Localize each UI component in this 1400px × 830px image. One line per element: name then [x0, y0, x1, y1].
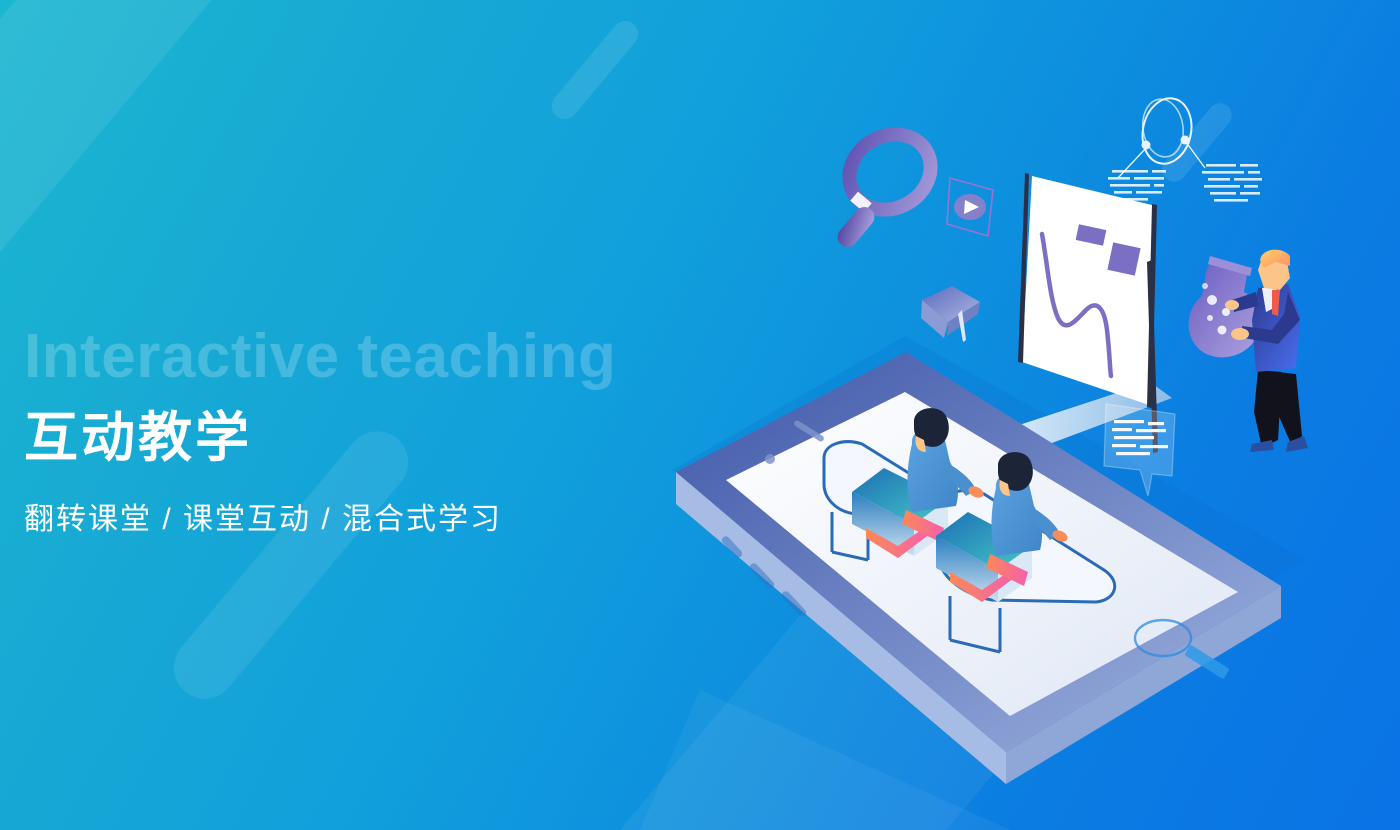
person-holding-flask	[1189, 250, 1308, 452]
page-subtitle: 翻转课堂 / 课堂互动 / 混合式学习	[24, 494, 502, 538]
magnifier-icon	[834, 120, 945, 251]
page-title: 互动教学	[24, 409, 252, 468]
graduation-cap-icon	[921, 286, 980, 342]
text-lines-right	[1202, 164, 1262, 202]
ghost-headline: Interactive teaching	[24, 326, 616, 388]
video-play-icon	[947, 178, 993, 236]
network-diagram-icon	[1118, 94, 1205, 178]
text-lines-left	[1108, 170, 1166, 201]
promo-banner: Interactive teaching 互动教学 翻转课堂 / 课堂互动 / …	[0, 0, 1400, 830]
